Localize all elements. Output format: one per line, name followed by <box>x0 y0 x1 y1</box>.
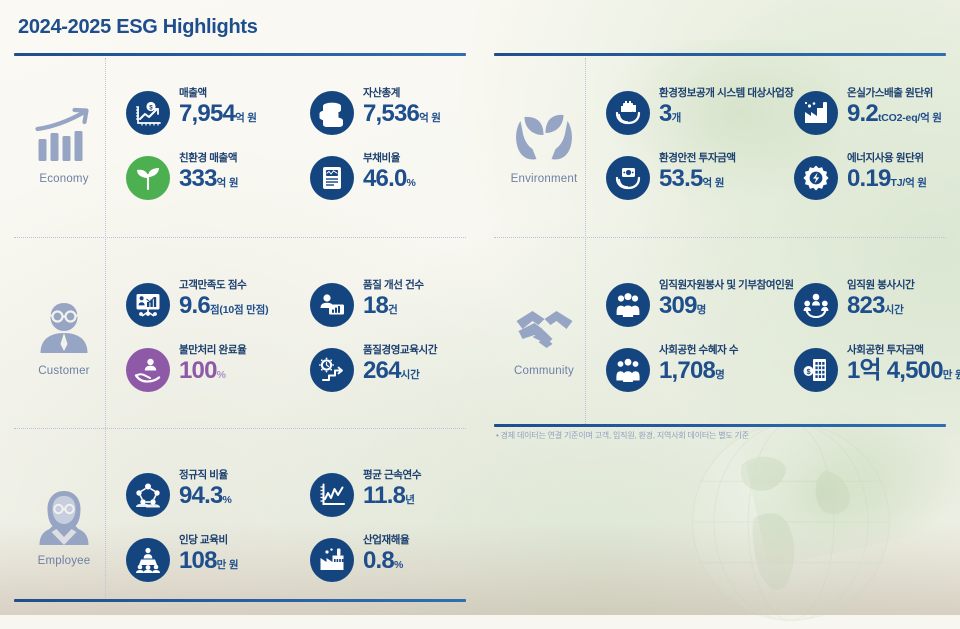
metric-value-row: 9.6점(10점 만점) <box>179 293 268 320</box>
metric-value-row: 7,536억 원 <box>363 101 441 128</box>
metric-text: 평균 근속연수 11.8년 <box>363 468 421 510</box>
metric-label: 환경안전 투자금액 <box>659 152 736 165</box>
metric-unit: 억 원 <box>235 112 257 124</box>
metric-label: 임직원자원봉사 및 기부참여인원 <box>659 279 794 292</box>
divider-left-top <box>14 53 466 56</box>
metric-text: 고객만족도 점수 9.6점(10점 만점) <box>179 278 268 320</box>
metric-unit: 시간 <box>885 304 904 316</box>
section-community: Community 임직원자원봉사 및 기부참여인원 309명 임직원 봉사시간 <box>494 262 946 412</box>
metric-value: 9.6 <box>179 292 210 319</box>
metric-text: 불만처리 완료율 100% <box>179 343 246 385</box>
metric-label: 인당 교육비 <box>179 534 238 547</box>
metric-item[interactable]: 불만처리 완료율 100% <box>126 343 302 392</box>
metric-label: 온실가스배출 원단위 <box>847 87 942 100</box>
metric-unit: 억 원 <box>703 177 725 189</box>
metric-item[interactable]: 에너지사용 원단위 0.19TJ/억 원 <box>794 151 960 200</box>
metric-label: 사회공헌 수혜자 수 <box>659 344 738 357</box>
metric-label: 친환경 매출액 <box>179 152 238 165</box>
metric-value: 100 <box>179 357 217 384</box>
metric-item[interactable]: 사회공헌 수혜자 수 1,708명 <box>606 343 786 392</box>
metric-value: 309 <box>659 292 697 319</box>
metric-label: 부채비율 <box>363 152 416 165</box>
category-economy: Economy <box>14 70 114 220</box>
metric-value-row: 823시간 <box>847 293 914 320</box>
metric-value-row: 94.3% <box>179 483 232 510</box>
metric-label: 품질 개선 건수 <box>363 279 424 292</box>
metric-unit: TJ/억 원 <box>891 177 927 189</box>
metric-value: 1억 4,500 <box>847 357 943 384</box>
metric-value-row: 7,954억 원 <box>179 101 257 128</box>
metric-item[interactable]: 부채비율 46.0% <box>310 151 486 200</box>
metric-value-row: 0.19TJ/억 원 <box>847 166 927 193</box>
metric-label: 고객만족도 점수 <box>179 279 268 292</box>
infographic-page: 2024-2025 ESG Highlights • 경제 데이터는 연결 기준… <box>0 0 960 615</box>
metric-item[interactable]: 고객만족도 점수 9.6점(10점 만점) <box>126 278 302 327</box>
hand-person-care-icon <box>126 348 170 392</box>
metric-value: 0.19 <box>847 165 891 192</box>
metric-label: 불만처리 완료율 <box>179 344 246 357</box>
category-community: Community <box>494 262 594 412</box>
metric-value: 7,954 <box>179 100 235 127</box>
presentation-chart-icon <box>126 283 170 327</box>
metric-item[interactable]: 품질경영교육시간 264시간 <box>310 343 486 392</box>
category-environment: Environment <box>494 70 594 220</box>
divider-right-middle <box>494 424 946 427</box>
metric-item[interactable]: 친환경 매출액 333억 원 <box>126 151 302 200</box>
metric-item[interactable]: 인당 교육비 108만 원 <box>126 533 302 582</box>
metric-value: 7,536 <box>363 100 419 127</box>
metric-item[interactable]: 자산총계 7,536억 원 <box>310 86 486 135</box>
money-in-hands-icon <box>606 156 650 200</box>
metric-value-row: 264시간 <box>363 358 437 385</box>
metric-item[interactable]: $ 매출액 7,954억 원 <box>126 86 302 135</box>
metric-label: 사회공헌 투자금액 <box>847 344 960 357</box>
metric-text: 임직원 봉사시간 823시간 <box>847 278 914 320</box>
row-divider-environment-community <box>494 237 946 238</box>
metric-item[interactable]: 임직원 봉사시간 823시간 <box>794 278 960 327</box>
metric-value: 11.8 <box>363 482 405 509</box>
metric-value-row: 0.8% <box>363 548 409 575</box>
coin-stack-icon <box>310 91 354 135</box>
metric-value: 0.8 <box>363 547 394 574</box>
metric-value-row: 11.8년 <box>363 483 421 510</box>
metric-value-row: 1억 4,500만 원 <box>847 358 960 385</box>
revenue-chart-icon: $ <box>126 91 170 135</box>
metric-unit: 년 <box>405 494 414 506</box>
metric-unit: 점(10점 만점) <box>210 304 268 316</box>
person-woman-icon <box>31 487 97 549</box>
people-circle-icon <box>794 283 838 327</box>
section-economy: Economy$ 매출액 7,954억 원 자산총계 7,536억 원 <box>14 70 466 220</box>
metric-unit: % <box>407 177 416 189</box>
metric-unit: 억 원 <box>217 177 239 189</box>
metric-text: 에너지사용 원단위 0.19TJ/억 원 <box>847 151 927 193</box>
metric-item[interactable]: 품질 개선 건수 18건 <box>310 278 486 327</box>
metric-text: 인당 교육비 108만 원 <box>179 533 238 575</box>
metric-item[interactable]: 정규직 비율 94.3% <box>126 468 302 517</box>
divider-right-top <box>494 53 946 56</box>
page-title: 2024-2025 ESG Highlights <box>18 16 258 39</box>
row-divider-customer-employee <box>14 428 466 429</box>
person-glasses-icon <box>31 297 97 359</box>
tenure-chart-icon <box>310 473 354 517</box>
metric-text: 온실가스배출 원단위 9.2tCO2-eq/억 원 <box>847 86 942 128</box>
metrics-grid-employee: 정규직 비율 94.3% 평균 근속연수 11.8년 인당 교육비 <box>126 468 486 582</box>
metric-item[interactable]: 임직원자원봉사 및 기부참여인원 309명 <box>606 278 786 327</box>
metric-text: 환경정보공개 시스템 대상사업장 3개 <box>659 86 794 128</box>
category-label: Economy <box>39 173 88 185</box>
metric-item[interactable]: 온실가스배출 원단위 9.2tCO2-eq/억 원 <box>794 86 960 135</box>
metric-value-row: 53.5억 원 <box>659 166 736 193</box>
metric-label: 품질경영교육시간 <box>363 344 437 357</box>
metrics-grid-economy: $ 매출액 7,954억 원 자산총계 7,536억 원 <box>126 86 486 200</box>
hands-leaf-icon <box>511 105 577 167</box>
three-people-alt-icon <box>606 348 650 392</box>
factory-safety-icon <box>310 538 354 582</box>
metric-value-row: 333억 원 <box>179 166 238 193</box>
metric-unit: 명 <box>715 369 724 381</box>
metric-unit: 건 <box>388 304 397 316</box>
metric-value-row: 9.2tCO2-eq/억 원 <box>847 101 942 128</box>
metric-text: 자산총계 7,536억 원 <box>363 86 441 128</box>
metric-unit: % <box>394 559 403 571</box>
metric-label: 정규직 비율 <box>179 469 232 482</box>
metric-label: 산업재해율 <box>363 534 409 547</box>
svg-text:$: $ <box>149 104 153 111</box>
metrics-grid-community: 임직원자원봉사 및 기부참여인원 309명 임직원 봉사시간 823시간 <box>606 278 960 392</box>
metric-value: 1,708 <box>659 357 715 384</box>
metric-text: 환경안전 투자금액 53.5억 원 <box>659 151 736 193</box>
metric-unit: % <box>217 369 226 381</box>
metric-text: 임직원자원봉사 및 기부참여인원 309명 <box>659 278 794 320</box>
leaf-sprout-icon <box>126 156 170 200</box>
metric-value: 9.2 <box>847 100 878 127</box>
category-label: Customer <box>38 365 89 377</box>
metric-value: 18 <box>363 292 388 319</box>
category-label: Community <box>514 365 574 377</box>
metric-value-row: 100% <box>179 358 246 385</box>
metric-unit: 시간 <box>401 369 420 381</box>
category-label: Environment <box>511 173 578 185</box>
metric-unit: 명 <box>697 304 706 316</box>
svg-text:$: $ <box>806 367 810 376</box>
metric-value: 333 <box>179 165 217 192</box>
section-customer: Customer 고객만족도 점수 9.6점(10점 만점) 품질 개선 건수 … <box>14 262 466 412</box>
building-money-icon: $ <box>794 348 838 392</box>
footnote: • 경제 데이터는 연결 기준이며 고객, 임직원, 환경, 지역사회 데이터는… <box>496 430 749 441</box>
metric-value-row: 309명 <box>659 293 794 320</box>
category-employee: Employee <box>14 452 114 602</box>
metric-value-row: 18건 <box>363 293 424 320</box>
metric-text: 정규직 비율 94.3% <box>179 468 232 510</box>
metric-item[interactable]: 환경정보공개 시스템 대상사업장 3개 <box>606 86 786 135</box>
category-label: Employee <box>38 555 91 567</box>
metric-value: 94.3 <box>179 482 223 509</box>
metric-text: 매출액 7,954억 원 <box>179 86 257 128</box>
metrics-grid-environment: 환경정보공개 시스템 대상사업장 3개 온실가스배출 원단위 9.2tCO2-e… <box>606 86 960 200</box>
metrics-grid-customer: 고객만족도 점수 9.6점(10점 만점) 품질 개선 건수 18건 불만처리 … <box>126 278 486 392</box>
smokestack-icon <box>794 91 838 135</box>
metric-label: 매출액 <box>179 87 257 100</box>
metric-value-row: 46.0% <box>363 166 416 193</box>
metric-value: 53.5 <box>659 165 703 192</box>
three-people-icon <box>606 283 650 327</box>
metric-label: 환경정보공개 시스템 대상사업장 <box>659 87 794 100</box>
metric-unit: tCO2-eq/억 원 <box>878 112 942 124</box>
metric-item[interactable]: 산업재해율 0.8% <box>310 533 486 582</box>
metric-unit: 개 <box>672 112 681 124</box>
metric-unit: 만 원 <box>943 369 960 381</box>
metric-unit: % <box>223 494 232 506</box>
metric-label: 임직원 봉사시간 <box>847 279 914 292</box>
metric-value-row: 1,708명 <box>659 358 738 385</box>
section-environment: Environment 환경정보공개 시스템 대상사업장 3개 온실가스배출 원… <box>494 70 946 220</box>
bar-chart-growth-icon <box>31 105 97 167</box>
row-divider-economy-customer <box>14 237 466 238</box>
factory-in-hands-icon <box>606 91 650 135</box>
metric-text: 품질 개선 건수 18건 <box>363 278 424 320</box>
metric-value: 823 <box>847 292 885 319</box>
metric-item[interactable]: 환경안전 투자금액 53.5억 원 <box>606 151 786 200</box>
metric-value: 108 <box>179 547 217 574</box>
metric-item[interactable]: $ 사회공헌 투자금액 1억 4,500만 원 <box>794 343 960 392</box>
metric-text: 품질경영교육시간 264시간 <box>363 343 437 385</box>
metric-value: 3 <box>659 100 672 127</box>
metric-text: 사회공헌 투자금액 1억 4,500만 원 <box>847 343 960 385</box>
handshake-icon <box>511 297 577 359</box>
metric-label: 평균 근속연수 <box>363 469 421 482</box>
gear-clock-steps-icon <box>310 348 354 392</box>
metric-text: 부채비율 46.0% <box>363 151 416 193</box>
training-podium-icon <box>126 538 170 582</box>
metric-item[interactable]: 평균 근속연수 11.8년 <box>310 468 486 517</box>
category-customer: Customer <box>14 262 114 412</box>
metric-text: 친환경 매출액 333억 원 <box>179 151 238 193</box>
metric-value: 264 <box>363 357 401 384</box>
team-network-icon <box>126 473 170 517</box>
metric-value-row: 3개 <box>659 101 794 128</box>
metric-value-row: 108만 원 <box>179 548 238 575</box>
metric-unit: 만 원 <box>217 559 239 571</box>
metric-label: 에너지사용 원단위 <box>847 152 927 165</box>
metric-label: 자산총계 <box>363 87 441 100</box>
person-screen-icon <box>310 283 354 327</box>
gear-energy-icon <box>794 156 838 200</box>
metric-unit: 억 원 <box>419 112 441 124</box>
section-employee: Employee 정규직 비율 94.3% 평균 근속연수 <box>14 452 466 602</box>
metric-text: 산업재해율 0.8% <box>363 533 409 575</box>
metric-text: 사회공헌 수혜자 수 1,708명 <box>659 343 738 385</box>
balance-sheet-icon <box>310 156 354 200</box>
metric-value: 46.0 <box>363 165 407 192</box>
